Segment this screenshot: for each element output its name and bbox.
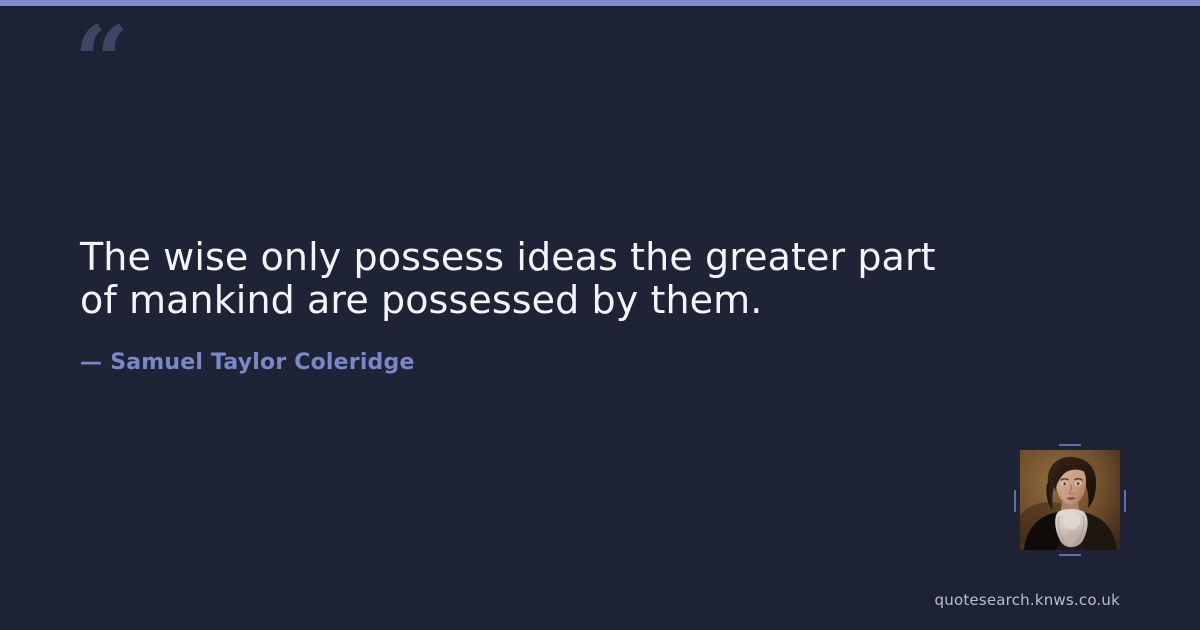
portrait-image	[1020, 450, 1120, 550]
quote-card: “ The wise only possess ideas the greate…	[0, 0, 1200, 630]
attribution-dash: —	[80, 350, 110, 375]
background-band-upper	[0, 6, 1200, 170]
quote-body: The wise only possess ideas the greater …	[80, 236, 1090, 376]
author-portrait	[1020, 450, 1120, 550]
watermark-url: quotesearch.knws.co.uk	[935, 590, 1120, 610]
frame-tick-right-icon	[1124, 490, 1126, 512]
frame-tick-top-icon	[1059, 444, 1081, 446]
quotation-mark-icon: “	[74, 14, 127, 110]
top-accent-bar	[0, 0, 1200, 6]
frame-tick-left-icon	[1014, 490, 1016, 512]
quote-attribution: —Samuel Taylor Coleridge	[80, 322, 1090, 376]
quote-text: The wise only possess ideas the greater …	[80, 236, 980, 322]
frame-tick-bottom-icon	[1059, 554, 1081, 556]
attribution-author: Samuel Taylor Coleridge	[110, 350, 414, 375]
